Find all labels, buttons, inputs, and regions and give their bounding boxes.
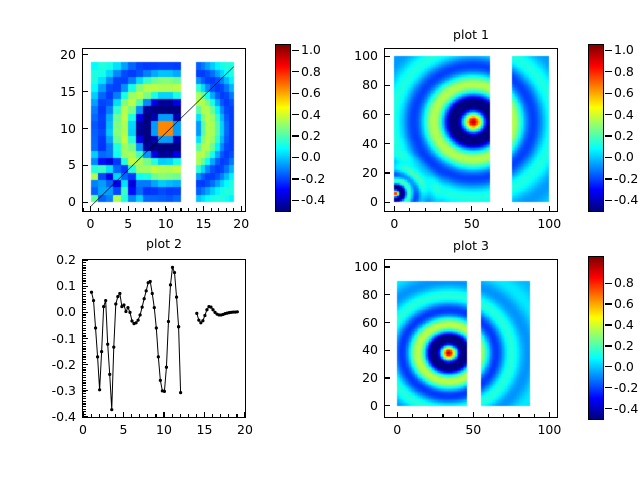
x-minor-tick xyxy=(458,414,459,418)
y-tick xyxy=(384,350,390,351)
y-tick xyxy=(384,322,390,323)
y-tick-label: 20 xyxy=(324,371,378,384)
colorbar-tick-label: -0.4 xyxy=(614,402,640,415)
x-tick-label: 0 xyxy=(372,423,422,436)
x-tick-label: 100 xyxy=(524,423,574,436)
colorbar-tick xyxy=(605,366,612,367)
figure-canvas: 05101520051015201.00.80.60.40.20.0-0.2-0… xyxy=(0,0,640,480)
colorbar-tick-label: 0.6 xyxy=(614,297,640,310)
y-tick-label: 80 xyxy=(324,288,378,301)
colorbar-tick xyxy=(605,283,612,284)
colorbar-tick xyxy=(605,387,612,388)
y-tick xyxy=(384,266,390,267)
y-tick-label: 0 xyxy=(324,399,378,412)
y-tick xyxy=(384,294,390,295)
y-tick xyxy=(384,377,390,378)
colorbar-tick-label: -0.2 xyxy=(614,381,640,394)
x-minor-tick xyxy=(427,414,428,418)
colorbar-tick-label: 0.2 xyxy=(614,339,640,352)
x-minor-tick xyxy=(442,414,443,418)
y-tick-label: 100 xyxy=(324,260,378,273)
y-tick-label: 40 xyxy=(324,343,378,356)
colorbar-tick xyxy=(605,345,612,346)
colorbar-tick xyxy=(605,303,612,304)
colorbar-gradient xyxy=(589,257,603,419)
y-tick xyxy=(384,405,390,406)
x-minor-tick xyxy=(549,414,550,418)
x-minor-tick xyxy=(534,414,535,418)
x-minor-tick xyxy=(412,414,413,418)
x-minor-tick xyxy=(473,414,474,418)
axes-frame xyxy=(384,259,558,418)
colorbar-tick xyxy=(605,324,612,325)
x-minor-tick xyxy=(518,414,519,418)
colorbar-tick-label: 0.4 xyxy=(614,318,640,331)
heatmap-image xyxy=(385,260,557,417)
x-tick-label: 50 xyxy=(448,423,498,436)
y-tick-label: 60 xyxy=(324,316,378,329)
colorbar-tick xyxy=(605,408,612,409)
x-minor-tick xyxy=(503,414,504,418)
colorbar xyxy=(588,256,604,420)
x-minor-tick xyxy=(397,414,398,418)
subplot-plot3: plot 30501000204060801000.80.60.40.20.0-… xyxy=(0,0,640,480)
colorbar-tick-label: 0.0 xyxy=(614,360,640,373)
colorbar-tick-label: 0.8 xyxy=(614,276,640,289)
x-minor-tick xyxy=(488,414,489,418)
subplot-title: plot 3 xyxy=(384,239,558,252)
